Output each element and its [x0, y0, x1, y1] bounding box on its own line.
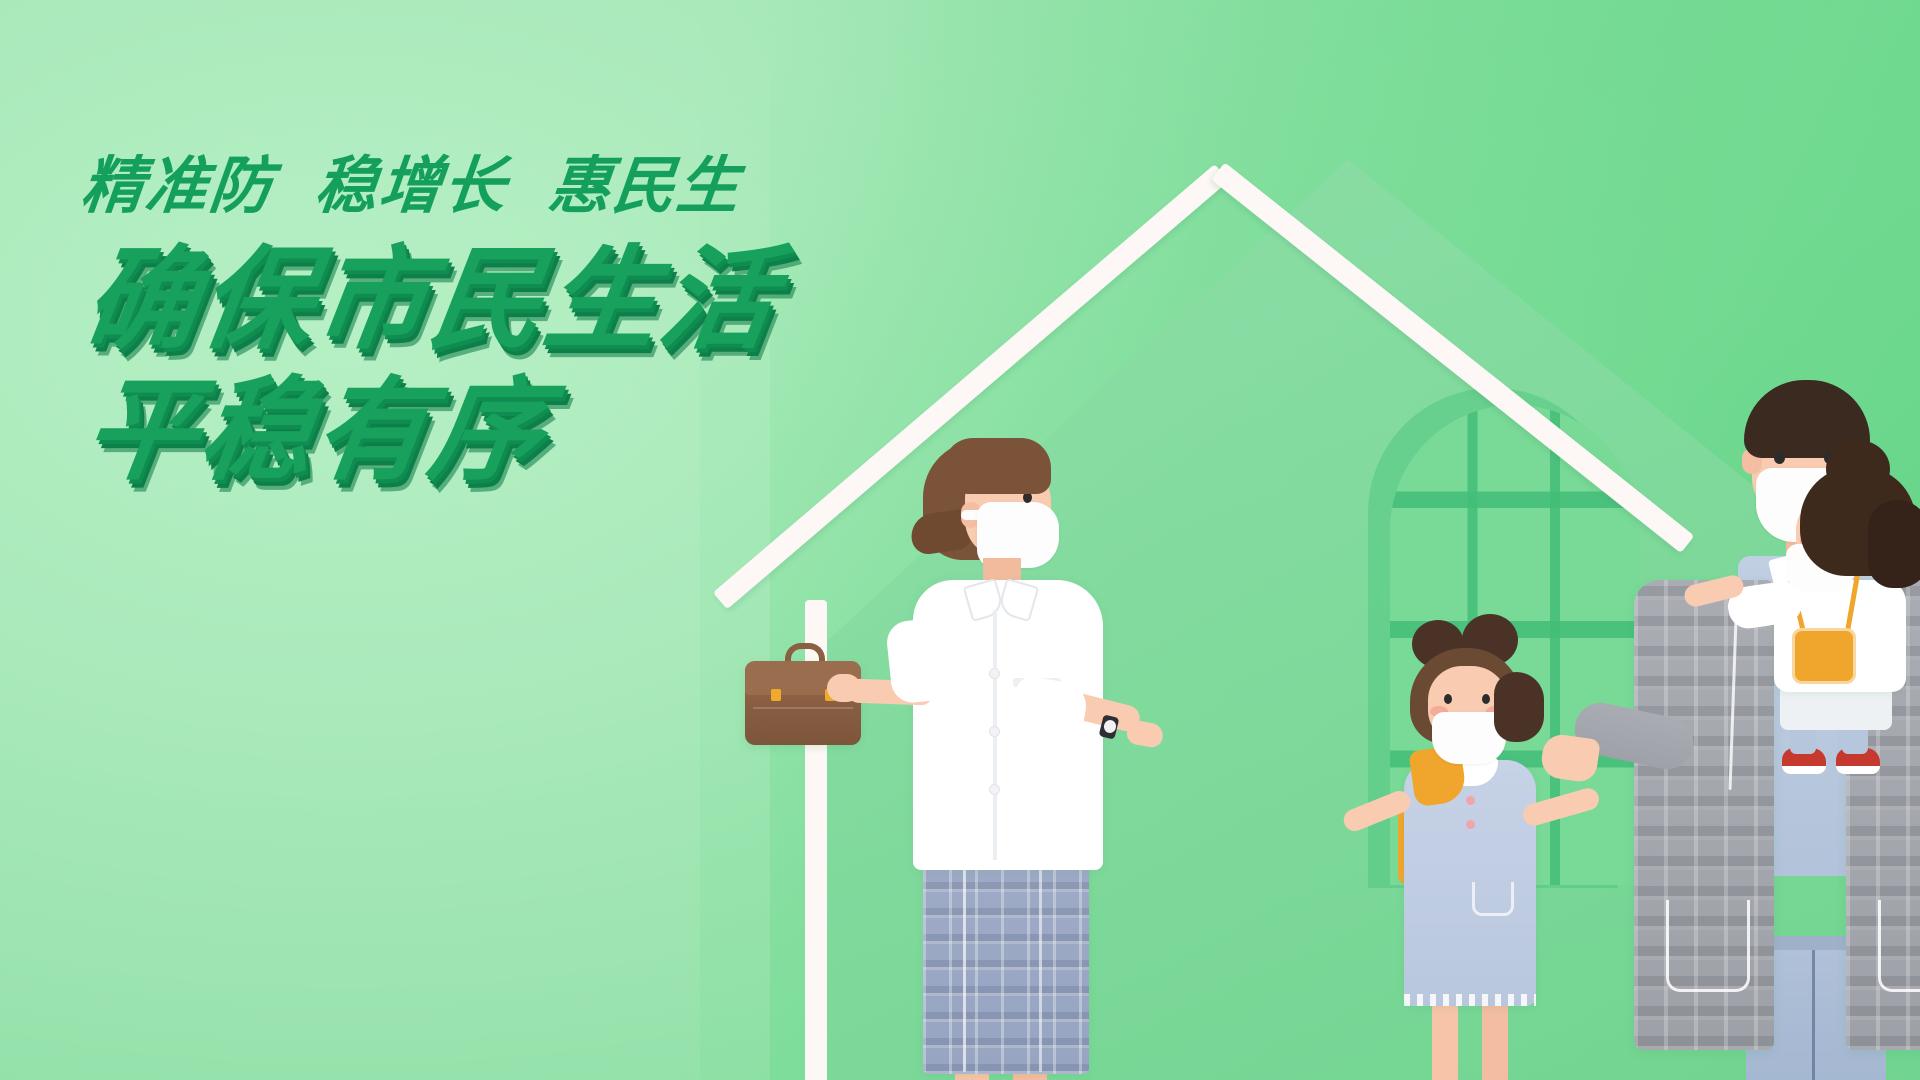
kicker-segment-3: 惠民生 [545, 149, 745, 222]
headline-text-block: 精准防 稳增长 惠民生 确保市民生活 平稳有序 [78, 150, 938, 488]
house-wall-left-edge [805, 600, 827, 1080]
kicker-segment-2: 稳增长 [312, 149, 512, 222]
poster-alt-text: 绿色公益海报：一家三口戴口罩走出家门 [0, 0, 1, 1]
headline-line-1: 确保市民生活 [78, 243, 954, 357]
headline-line-2: 平稳有序 [78, 374, 954, 488]
kicker-line: 精准防 稳增长 惠民生 [78, 150, 945, 221]
kicker-segment-1: 精准防 [78, 149, 278, 222]
poster-canvas: 精准防 稳增长 惠民生 确保市民生活 平稳有序 [0, 0, 1920, 1080]
